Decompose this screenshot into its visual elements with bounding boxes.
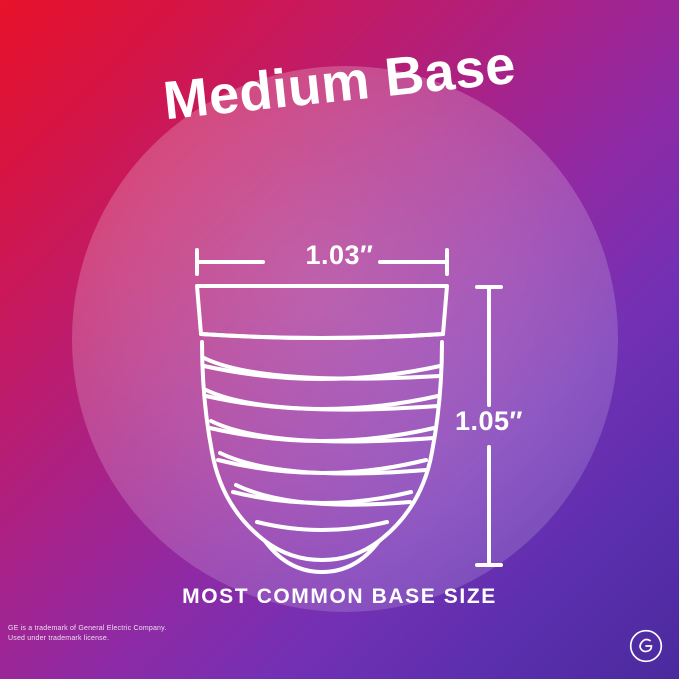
product-infographic: Medium Base	[0, 0, 679, 679]
caption-text: MOST COMMON BASE SIZE	[0, 585, 679, 609]
ge-logo-icon	[629, 629, 663, 663]
base-dimension-diagram	[0, 0, 679, 679]
width-dimension-label: 1.03″	[0, 240, 679, 271]
legal-line-2: Used under trademark license.	[8, 634, 166, 644]
base-collar-outline	[197, 286, 447, 338]
height-dimension-label: 1.05″	[455, 406, 545, 437]
screw-thread-outline	[202, 342, 442, 572]
legal-line-1: GE is a trademark of General Electric Co…	[8, 624, 166, 634]
legal-notice: GE is a trademark of General Electric Co…	[8, 624, 166, 644]
